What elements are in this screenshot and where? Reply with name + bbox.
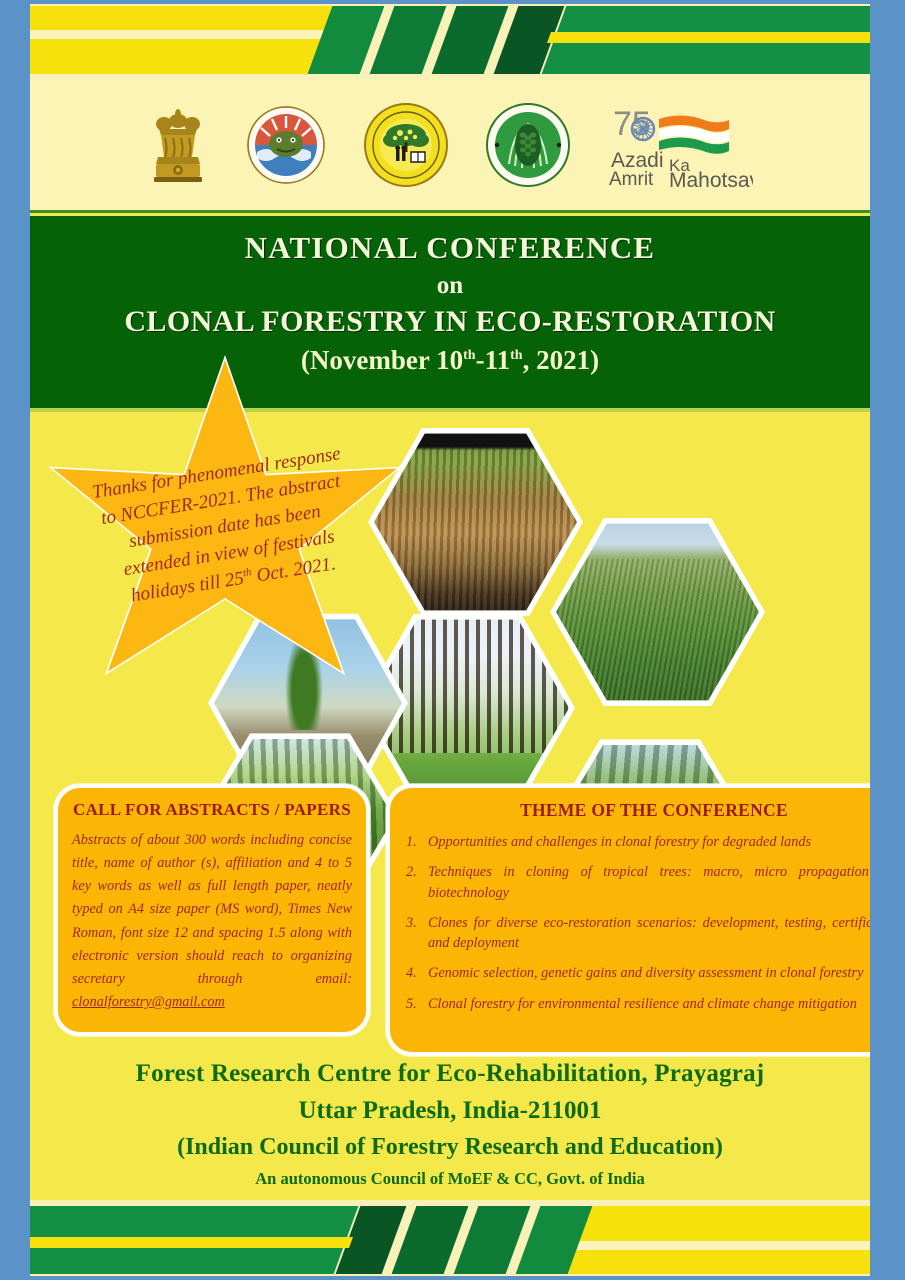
theme-item-3: 3. Clones for diverse eco-restoration sc…	[406, 913, 870, 954]
azadi-ka-amrit-mahotsav-logo-icon: 75 Azadi Ka Amrit Mahotsav	[607, 101, 753, 189]
state-emblem-of-india-icon	[147, 104, 209, 186]
date-sup-2: th	[510, 348, 522, 363]
contact-email-link[interactable]: clonalforestry@gmail.com	[72, 994, 225, 1010]
hex-plantation-aerial	[550, 512, 765, 712]
footer-parent-council: (Indian Council of Forestry Research and…	[30, 1134, 870, 1161]
theme-item-number: 4.	[406, 963, 417, 983]
theme-item-number: 5.	[406, 994, 417, 1014]
announcement-text: Thanks for phenomenal response to NCCFER…	[85, 440, 365, 614]
announcement-text-part1: Thanks for phenomenal response to NCCFER…	[91, 443, 342, 606]
call-for-abstracts-heading: CALL FOR ABSTRACTS / PAPERS	[72, 800, 352, 820]
footer-address: Uttar Pradesh, India-211001	[30, 1097, 870, 1125]
fri-dehradun-logo-icon	[485, 102, 571, 188]
theme-heading: THEME OF THE CONFERENCE	[406, 800, 870, 821]
date-sup-1: th	[463, 348, 475, 363]
date-suffix: , 2021)	[523, 345, 600, 375]
theme-item-text: Genomic selection, genetic gains and div…	[428, 965, 863, 981]
moefcc-logo-icon	[245, 104, 327, 186]
band-yellow-stripe-skew	[309, 1237, 353, 1248]
theme-item-text: Opportunities and challenges in clonal f…	[428, 834, 811, 850]
band-yellow-cut	[568, 1241, 870, 1250]
svg-text:Mahotsav: Mahotsav	[669, 169, 753, 189]
poster-page: 75 Azadi Ka Amrit Mahotsav	[30, 4, 870, 1276]
svg-text:Amrit: Amrit	[609, 169, 654, 189]
theme-item-text: Techniques in cloning of tropical trees:…	[428, 864, 870, 900]
top-decorative-band	[30, 4, 870, 80]
footer-ministry-note: An autonomous Council of MoEF & CC, Govt…	[30, 1169, 870, 1189]
organizer-footer: Forest Research Centre for Eco-Rehabilit…	[30, 1060, 870, 1189]
band-yellow-stripe-skew	[547, 32, 591, 43]
abstracts-body-text: Abstracts of about 300 words including c…	[72, 832, 352, 987]
logo-header: 75 Azadi Ka Amrit Mahotsav	[30, 80, 870, 213]
theme-item-number: 3.	[406, 913, 417, 933]
footer-institute-name: Forest Research Centre for Eco-Rehabilit…	[30, 1060, 870, 1088]
conference-title-line2: CLONAL FORESTRY IN ECO-RESTORATION	[30, 305, 870, 339]
theme-item-1: 1. Opportunities and challenges in clona…	[406, 832, 870, 852]
call-for-abstracts-box: CALL FOR ABSTRACTS / PAPERS Abstracts of…	[54, 784, 370, 1036]
announcement-star-burst: Thanks for phenomenal response to NCCFER…	[42, 360, 408, 710]
icfre-logo-icon	[363, 102, 449, 188]
bottom-decorative-band	[30, 1200, 870, 1276]
theme-item-number: 2.	[406, 862, 417, 882]
theme-list: 1. Opportunities and challenges in clona…	[406, 832, 870, 1014]
date-mid: -11	[476, 345, 511, 375]
band-yellow-stripe-right	[560, 32, 870, 43]
conference-title-line1: NATIONAL CONFERENCE	[30, 230, 870, 266]
call-for-abstracts-body: Abstracts of about 300 words including c…	[72, 829, 352, 1014]
theme-item-5: 5. Clonal forestry for environmental res…	[406, 994, 870, 1014]
conference-title-on: on	[30, 272, 870, 300]
theme-item-number: 1.	[406, 832, 417, 852]
theme-item-text: Clones for diverse eco-restoration scena…	[428, 915, 870, 951]
hex-photo-plantation	[556, 518, 759, 706]
theme-item-4: 4. Genomic selection, genetic gains and …	[406, 963, 870, 983]
theme-item-2: 2. Techniques in cloning of tropical tre…	[406, 862, 870, 903]
conference-poster: 75 Azadi Ka Amrit Mahotsav	[0, 0, 905, 1280]
theme-of-conference-box: THEME OF THE CONFERENCE 1. Opportunities…	[386, 784, 870, 1056]
band-yellow-stripe-right	[30, 1237, 340, 1248]
theme-item-text: Clonal forestry for environmental resili…	[428, 996, 857, 1012]
